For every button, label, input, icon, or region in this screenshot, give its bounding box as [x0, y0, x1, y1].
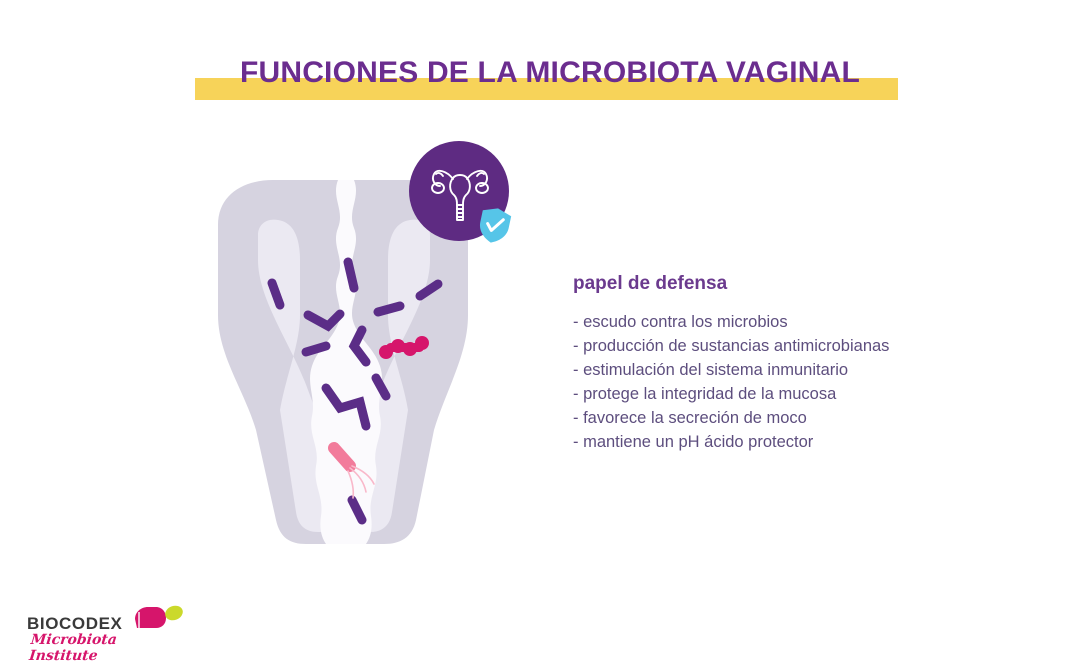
uterus-badge: [409, 141, 512, 244]
bacteria-rod: [348, 262, 354, 288]
shield-check-icon: [477, 207, 512, 244]
coccus-link: [386, 343, 424, 352]
biocodex-logo: BIOCODEX Microbiota Institute: [27, 603, 187, 651]
bacteria-rod: [306, 346, 326, 352]
page-title: FUNCIONES DE LA MICROBIOTA VAGINAL: [190, 52, 910, 94]
defense-heading: papel de defensa: [573, 272, 1023, 296]
title-block: FUNCIONES DE LA MICROBIOTA VAGINAL: [190, 52, 910, 102]
logo-capsule-icon: [131, 603, 183, 633]
bacteria-rod: [378, 306, 400, 312]
logo-tagline: Microbiota Institute: [28, 632, 188, 664]
list-item: - estimulación del sistema inmunitario: [573, 358, 1023, 382]
benefit-list: - escudo contra los microbios - producci…: [573, 310, 1023, 454]
logo-wordmark: BIOCODEX: [27, 615, 122, 633]
defense-text-panel: papel de defensa - escudo contra los mic…: [573, 272, 1023, 454]
list-item: - mantiene un pH ácido protector: [573, 430, 1023, 454]
list-item: - escudo contra los microbios: [573, 310, 1023, 334]
list-item: - producción de sustancias antimicrobian…: [573, 334, 1023, 358]
list-item: - favorece la secreción de moco: [573, 406, 1023, 430]
list-item: - protege la integridad de la mucosa: [573, 382, 1023, 406]
